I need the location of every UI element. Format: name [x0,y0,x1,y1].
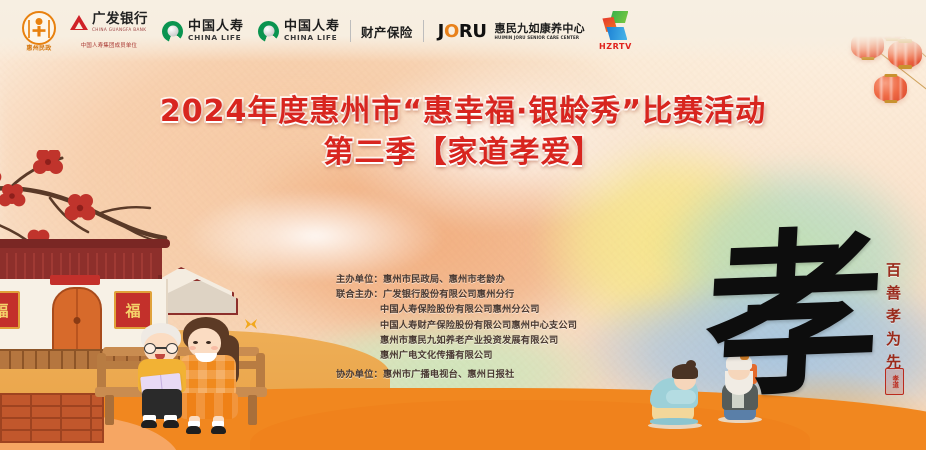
host-line: 主办单位：惠州市民政局、惠州市老龄办 [336,272,577,287]
china-life-property-suffix: 财产保险 [361,22,413,41]
china-life-ring-icon [162,21,183,42]
china-life-property-name-cn: 中国人寿 [284,20,340,33]
poster-title: 2024年度惠州市“惠幸福·银龄秀”比赛活动 第二季【家道孝爱】 [0,94,926,171]
brick-wall [0,393,104,443]
logo-china-life: 中国人寿 CHINA LIFE [162,20,244,41]
logo-divider [423,20,424,42]
poster-canvas: 福 福 [0,0,926,450]
red-triangle-icon [70,15,88,30]
host-label: 主办单位： [336,274,383,285]
organizer-block: 主办单位：惠州市民政局、惠州市老龄办 联合主办：广发银行股份有限公司惠州分行 中… [336,272,577,382]
china-life-name-en: CHINA LIFE [188,34,244,41]
round-orange-emblem-icon [22,11,56,45]
logo-divider [350,20,351,42]
logo-caption-civil-affairs: 惠州民政 [26,46,51,52]
vertical-motto: 百善孝为先 [883,262,904,377]
logo-hzrtv: HZRTV [599,11,632,51]
support-value: 惠州市广播电视台、惠州日报社 [383,369,514,380]
china-life-property-name-en: CHINA LIFE [284,34,340,41]
china-life-name-cn: 中国人寿 [188,20,244,33]
china-life-ring-icon [258,21,279,42]
guangfa-subtitle: 中国人寿集团成员单位 [81,41,137,49]
title-line-2: 第二季【家道孝爱】 [0,135,926,172]
support-label: 协办单位： [336,369,383,380]
logo-guangfa-bank: 广发银行 CHINA GUANGFA BANK 中国人寿集团成员单位 [70,13,148,48]
bowing-figure [648,360,704,426]
house-main-roof [0,245,162,279]
fu-couplet-left: 福 [0,291,20,329]
logo-china-life-property: 中国人寿 CHINA LIFE 财产保险 [258,20,424,42]
joru-wordmark: JORU [438,21,487,42]
cohost-label: 联合主办： [336,289,383,300]
support-line: 协办单位：惠州市广播电视台、惠州日报社 [336,367,577,382]
red-seal-stamp: 孝道 [885,368,904,395]
joru-name-cn: 惠民九如康养中心 [495,23,585,34]
house-door-lintel [50,275,100,285]
elderly-figure [133,323,191,431]
title-line-1: 2024年度惠州市“惠幸福·银龄秀”比赛活动 [0,94,926,131]
joru-name-en: HUIMIN JORU SENIOR CARE CENTER [495,36,585,40]
cohost-value-4: 惠州广电文化传播有限公司 [336,348,577,363]
guangfa-name-cn: 广发银行 [92,13,148,27]
sponsor-logo-bar: 惠州民政 广发银行 CHINA GUANGFA BANK 中国人寿集团成员单位 … [0,0,926,62]
logo-huizhou-civil-affairs: 惠州民政 [22,11,56,52]
cohost-line-0: 联合主办：广发银行股份有限公司惠州分行 [336,287,577,302]
logo-joru-senior-care: JORU 惠民九如康养中心 HUIMIN JORU SENIOR CARE CE… [438,21,585,42]
tricolor-s-ribbon-icon [600,11,630,41]
cohost-value-2: 中国人寿财产保险股份有限公司惠州中心支公司 [336,318,577,333]
host-value: 惠州市民政局、惠州市老龄办 [383,274,505,285]
elder-and-granddaughter-scene [95,305,275,435]
xiao-calligraphy-character: 孝 [702,237,886,394]
eyeglasses-icon [144,343,178,354]
cohost-value-3: 惠州市惠民九如养老产业投资发展有限公司 [336,333,577,348]
cohost-value-0: 广发银行股份有限公司惠州分行 [383,289,514,300]
cohost-value-1: 中国人寿保险股份有限公司惠州分公司 [336,302,577,317]
hzrtv-caption: HZRTV [599,42,632,51]
guangfa-name-en: CHINA GUANGFA BANK [92,28,148,32]
